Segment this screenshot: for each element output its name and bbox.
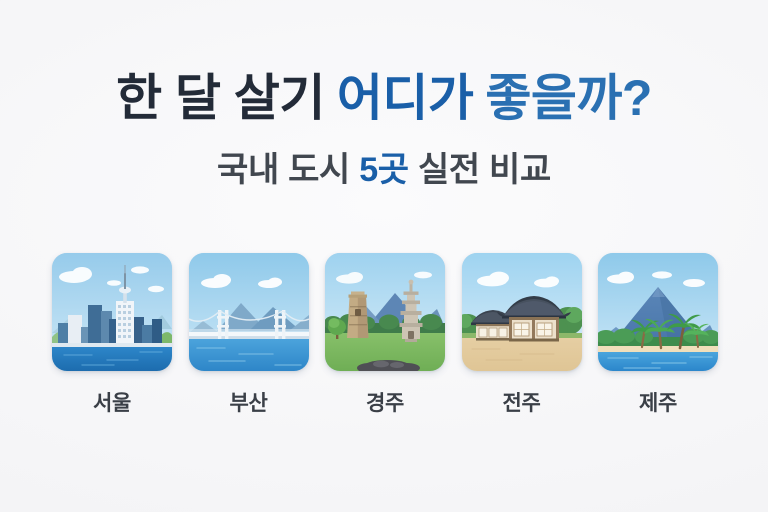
seoul-skyline-illustration — [52, 253, 172, 371]
title-segment-primary: 한 달 살기 — [116, 70, 325, 126]
city-label-busan: 부산 — [229, 387, 267, 417]
city-item-jeonju[interactable]: 전주 — [462, 253, 582, 417]
city-label-seoul: 서울 — [93, 387, 131, 417]
page-title: 한 달 살기어디가좋을까? — [0, 72, 768, 125]
page-subtitle: 국내 도시 5곳 실전 비교 — [0, 152, 768, 189]
subtitle-count-highlight: 5곳 — [359, 151, 409, 189]
city-card-seoul[interactable] — [52, 253, 172, 371]
city-label-jeju: 제주 — [639, 387, 677, 417]
city-card-busan[interactable] — [189, 253, 309, 371]
city-card-strip: 서울 — [52, 253, 718, 433]
gyeongju-heritage-illustration — [325, 253, 445, 371]
city-card-jeonju[interactable] — [462, 253, 582, 371]
title-segment-question: 어디가 — [337, 70, 474, 126]
title-segment-accent: 좋을까? — [485, 70, 652, 126]
subtitle-after: 실전 비교 — [418, 151, 551, 189]
city-item-gyeongju[interactable]: 경주 — [325, 253, 445, 417]
jeonju-hanok-illustration — [462, 253, 582, 371]
poster-canvas: 한 달 살기어디가좋을까? 국내 도시 5곳 실전 비교 — [0, 0, 768, 512]
subtitle-before: 국내 도시 — [217, 151, 350, 189]
city-item-seoul[interactable]: 서울 — [52, 253, 172, 417]
city-label-gyeongju: 경주 — [366, 387, 404, 417]
city-item-jeju[interactable]: 제주 — [598, 253, 718, 417]
city-item-busan[interactable]: 부산 — [189, 253, 309, 417]
city-label-jeonju: 전주 — [502, 387, 540, 417]
city-card-gyeongju[interactable] — [325, 253, 445, 371]
busan-bridge-illustration — [189, 253, 309, 371]
city-card-jeju[interactable] — [598, 253, 718, 371]
jeju-hallasan-beach-illustration — [598, 253, 718, 371]
